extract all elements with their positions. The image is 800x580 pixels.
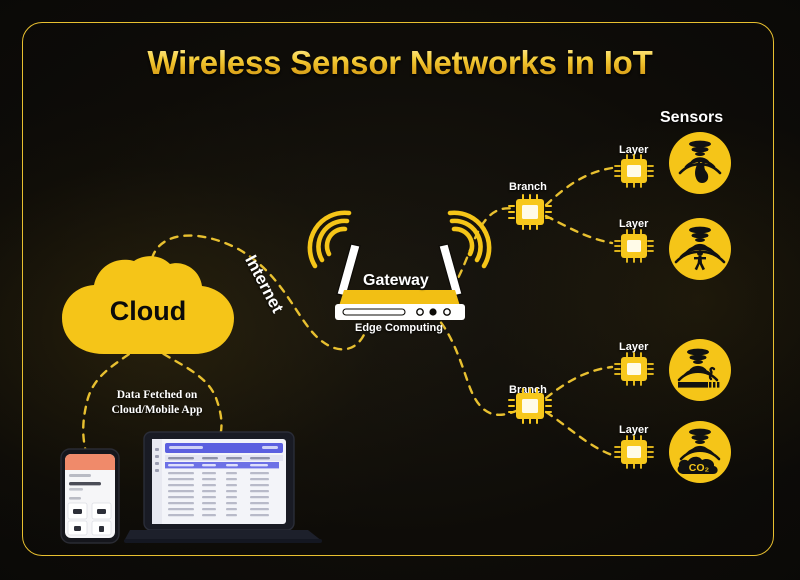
- chip-icon[interactable]: [614, 352, 654, 386]
- branch-label-1: Branch: [509, 181, 547, 193]
- gateway-label: Gateway: [363, 272, 429, 290]
- chip-icon[interactable]: [508, 387, 552, 425]
- smoke-detector-icon[interactable]: [668, 338, 732, 402]
- path-branch2-to-layer3: [546, 367, 612, 398]
- co2-detector-icon[interactable]: CO₂: [668, 420, 732, 484]
- path-branch1-to-layer1: [546, 168, 612, 205]
- sensors-header: Sensors: [660, 109, 723, 127]
- chip-icon[interactable]: [614, 435, 654, 469]
- data-fetch-label: Data Fetched on Cloud/Mobile App: [82, 388, 232, 418]
- path-branch1-to-layer2: [546, 216, 612, 243]
- chip-icon[interactable]: [614, 154, 654, 188]
- edge-computing-label: Edge Computing: [355, 322, 443, 334]
- chip-icon[interactable]: [508, 193, 552, 231]
- co2-label: CO₂: [689, 462, 710, 474]
- path-branch2-to-layer4: [546, 412, 612, 455]
- motion-detector-icon[interactable]: [668, 217, 732, 281]
- flame-detector-icon[interactable]: [668, 131, 732, 195]
- laptop-icon[interactable]: [126, 430, 326, 545]
- cloud-label: Cloud: [66, 296, 230, 327]
- smartphone-icon[interactable]: [60, 448, 120, 544]
- diagram-canvas: Wireless Sensor Networks in IoT Cloud: [0, 0, 800, 580]
- chip-icon[interactable]: [614, 229, 654, 263]
